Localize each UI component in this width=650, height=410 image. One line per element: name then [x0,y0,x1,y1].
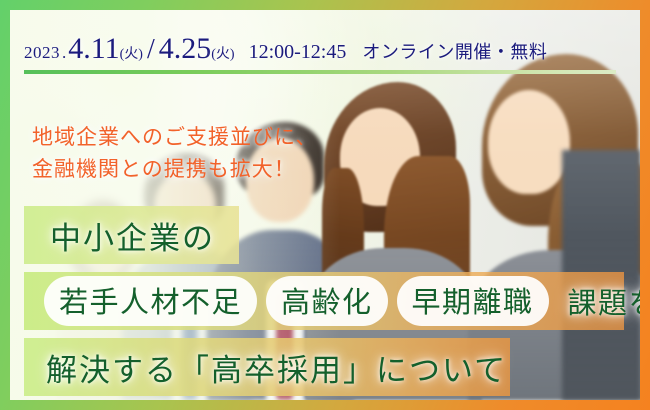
year-separator: . [60,43,68,63]
headline-line-1: 中小企業の [24,213,215,258]
header-row: 2023 . 4.11 (火) / 4.25 (火) 12:00-12:45 オ… [10,34,640,74]
date-bar: 2023 . 4.11 (火) / 4.25 (火) 12:00-12:45 オ… [10,34,640,66]
date-2-weekday: (火) [211,43,234,63]
keyword-pill: 若手人材不足 [44,276,257,326]
keyword-pill-group: 若手人材不足 高齢化 早期離職 課題を [24,276,640,326]
keyword-pill-label: 早期離職 [412,279,534,321]
headline-band-1: 中小企業の [24,206,239,264]
keyword-pill: 早期離職 [397,276,549,326]
headline-line-2-tail: 課題を [558,280,640,322]
date-separator: / [143,34,159,66]
keyword-pill: 高齢化 [266,276,388,326]
format-note: オンライン開催・無料 [346,38,547,64]
subheading-line-1: 地域企業へのご支援並びに、 [32,122,317,154]
keyword-pill-label: 若手人材不足 [59,279,242,321]
date-1-weekday: (火) [120,43,143,63]
keyword-pill-label: 高齢化 [281,279,373,321]
subheading: 地域企業へのご支援並びに、 金融機関との提携も拡大！ [32,122,317,186]
headline-band-3: 解決する「高卒採用」について [24,338,510,396]
subheading-line-2: 金融機関との提携も拡大！ [32,154,317,186]
time-label: 12:00-12:45 [235,41,347,64]
headline-line-3: 解決する「高卒採用」について [24,345,507,390]
seminar-banner: 2023 . 4.11 (火) / 4.25 (火) 12:00-12:45 オ… [0,0,650,410]
date-1: 4.11 [68,34,119,64]
headline-line-2-tail-label: 課題を [568,286,640,320]
headline-band-2: 若手人材不足 高齢化 早期離職 課題を [24,272,624,330]
date-2: 4.25 [159,34,212,64]
header-underline [24,70,616,74]
year-label: 2023 [24,43,60,63]
banner-stage: 2023 . 4.11 (火) / 4.25 (火) 12:00-12:45 オ… [10,10,640,400]
